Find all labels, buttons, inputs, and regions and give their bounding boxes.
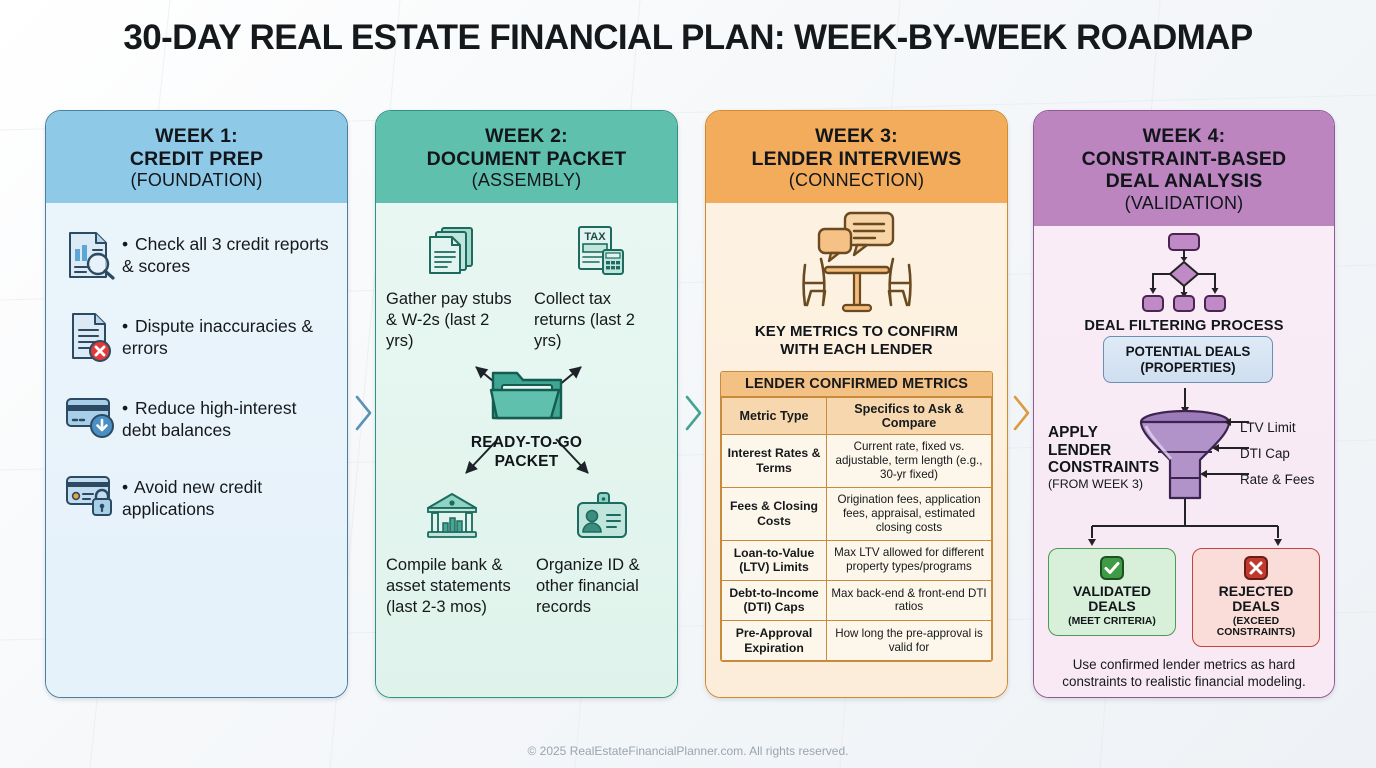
constraint-label-rate: Rate & Fees	[1240, 473, 1314, 499]
week-4-header: WEEK 4: CONSTRAINT-BASED DEAL ANALYSIS (…	[1034, 111, 1334, 226]
table-row: Debt-to-Income (DTI) Caps Max back-end &…	[722, 580, 992, 620]
table-cell-specifics: Max LTV allowed for different property t…	[827, 540, 992, 580]
week-3-title-line2: LENDER INTERVIEWS	[714, 148, 999, 171]
validated-line2: DEALS	[1051, 599, 1173, 614]
week-4-subtitle: (VALIDATION)	[1042, 193, 1326, 214]
list-item: • Check all 3 credit reports & scores	[60, 229, 335, 281]
weeks-container: WEEK 1: CREDIT PREP (FOUNDATION)	[45, 110, 1335, 700]
week-1-title-line1: WEEK 1:	[54, 125, 339, 148]
week-1-header: WEEK 1: CREDIT PREP (FOUNDATION)	[46, 111, 347, 203]
week-1-panel: WEEK 1: CREDIT PREP (FOUNDATION)	[45, 110, 348, 698]
list-item-label: • Avoid new credit applications	[122, 472, 335, 521]
week-3-title-line1: WEEK 3:	[714, 125, 999, 148]
week-2-center-label-line2: PACKET	[376, 453, 677, 472]
week-2-item-label: Organize ID & other financial records	[536, 555, 668, 617]
footer-copyright: © 2025 RealEstateFinancialPlanner.com. A…	[0, 744, 1376, 758]
week-3-body: KEY METRICS TO CONFIRM WITH EACH LENDER …	[706, 203, 1007, 698]
rejected-deals-box: REJECTED DEALS (EXCEED CONSTRAINTS)	[1192, 548, 1320, 648]
chevron-connector-3-4	[1009, 393, 1033, 433]
table-cell-metric: Debt-to-Income (DTI) Caps	[722, 580, 827, 620]
week-2-item-paystubs: Gather pay stubs & W-2s (last 2 yrs)	[386, 219, 518, 351]
week-3-panel: WEEK 3: LENDER INTERVIEWS (CONNECTION)	[705, 110, 1008, 698]
folder-icon	[376, 363, 677, 430]
week-4-body: DEAL FILTERING PROCESS POTENTIAL DEALS (…	[1034, 226, 1334, 698]
svg-text:TAX: TAX	[584, 231, 606, 243]
table-cell-specifics: Current rate, fixed vs. adjustable, term…	[827, 435, 992, 488]
table-column-header: Specifics to Ask & Compare	[827, 398, 992, 435]
lender-metrics-table: LENDER CONFIRMED METRICS Metric Type Spe…	[720, 371, 993, 662]
week-3-caption-line1: KEY METRICS TO CONFIRM	[706, 323, 1007, 341]
credit-report-magnifier-icon	[60, 229, 122, 281]
week-3-header: WEEK 3: LENDER INTERVIEWS (CONNECTION)	[706, 111, 1007, 203]
week-2-item-bank: Compile bank & asset statements (last 2-…	[386, 485, 518, 617]
week-2-body: Gather pay stubs & W-2s (last 2 yrs) TAX	[376, 203, 677, 698]
week-2-center: READY-TO-GO PACKET	[376, 363, 677, 471]
bank-chart-icon	[386, 485, 518, 547]
week-4-footnote: Use confirmed lender metrics as hard con…	[1046, 656, 1322, 691]
constraint-labels: LTV Limit DTI Cap Rate & Fees	[1240, 421, 1314, 499]
table-cell-metric: Loan-to-Value (LTV) Limits	[722, 540, 827, 580]
document-error-icon	[60, 311, 122, 363]
week-2-panel: WEEK 2: DOCUMENT PACKET (ASSEMBLY)	[375, 110, 678, 698]
week-2-title-line1: WEEK 2:	[384, 125, 669, 148]
week-3-caption-line2: WITH EACH LENDER	[706, 341, 1007, 359]
week-4-title-line1: WEEK 4:	[1042, 125, 1326, 148]
table-column-header: Metric Type	[722, 398, 827, 435]
stacked-documents-icon	[386, 219, 518, 281]
week-3-subtitle: (CONNECTION)	[714, 170, 999, 191]
list-item: • Avoid new credit applications	[60, 472, 335, 521]
apply-line1: APPLY LENDER	[1048, 424, 1160, 460]
week-4-diagram: DEAL FILTERING PROCESS POTENTIAL DEALS (…	[1034, 226, 1334, 698]
week-1-list: • Check all 3 credit reports & scores	[46, 203, 347, 521]
week-1-subtitle: (FOUNDATION)	[54, 170, 339, 191]
table-header-row: Metric Type Specifics to Ask & Compare	[722, 398, 992, 435]
week-2-item-label: Collect tax returns (last 2 yrs)	[534, 289, 666, 351]
constraint-label-ltv: LTV Limit	[1240, 421, 1314, 447]
table-cell-specifics: Max back-end & front-end DTI ratios	[827, 580, 992, 620]
week-2-item-label: Gather pay stubs & W-2s (last 2 yrs)	[386, 289, 518, 351]
chevron-connector-2-3	[681, 393, 705, 433]
validated-deals-box: VALIDATED DEALS (MEET CRITERIA)	[1048, 548, 1176, 637]
apply-line2: CONSTRAINTS	[1048, 459, 1160, 477]
page-title: 30-Day Real Estate Financial Plan: Week-…	[0, 18, 1376, 58]
validated-line1: VALIDATED	[1051, 584, 1173, 599]
chevron-connector-1-2	[351, 393, 375, 433]
list-item: • Reduce high-interest debt balances	[60, 393, 335, 442]
rejected-line1: REJECTED	[1195, 584, 1317, 599]
week-4-title-line3: DEAL ANALYSIS	[1042, 170, 1326, 193]
week-2-subtitle: (ASSEMBLY)	[384, 170, 669, 191]
table-cell-metric: Interest Rates & Terms	[722, 435, 827, 488]
table-row: Interest Rates & Terms Current rate, fix…	[722, 435, 992, 488]
apply-sub: (FROM WEEK 3)	[1048, 477, 1160, 491]
list-item-label: • Reduce high-interest debt balances	[122, 393, 335, 442]
week-2-item-label: Compile bank & asset statements (last 2-…	[386, 555, 518, 617]
rejected-sub: (EXCEED CONSTRAINTS)	[1195, 616, 1317, 638]
constraint-label-dti: DTI Cap	[1240, 447, 1314, 473]
week-2-grid: Gather pay stubs & W-2s (last 2 yrs) TAX	[376, 203, 677, 698]
table-row: Loan-to-Value (LTV) Limits Max LTV allow…	[722, 540, 992, 580]
week-3-illustration-block: KEY METRICS TO CONFIRM WITH EACH LENDER	[706, 203, 1007, 359]
week-2-header: WEEK 2: DOCUMENT PACKET (ASSEMBLY)	[376, 111, 677, 203]
interview-table-speech-bubbles-icon	[706, 209, 1007, 319]
table-banner: LENDER CONFIRMED METRICS	[721, 372, 992, 397]
credit-card-down-arrow-icon	[60, 393, 122, 439]
credit-card-lock-icon	[60, 472, 122, 518]
apply-constraints-label: APPLY LENDER CONSTRAINTS (FROM WEEK 3)	[1048, 424, 1160, 492]
week-2-item-tax: TAX	[534, 219, 666, 351]
week-2-title-line2: DOCUMENT PACKET	[384, 148, 669, 171]
week-2-center-label-line1: READY-TO-GO	[376, 434, 677, 453]
week-4-panel: WEEK 4: CONSTRAINT-BASED DEAL ANALYSIS (…	[1033, 110, 1335, 698]
table-row: Fees & Closing Costs Origination fees, a…	[722, 487, 992, 540]
week-1-title-line2: CREDIT PREP	[54, 148, 339, 171]
id-card-icon	[536, 485, 668, 547]
list-item-label: • Check all 3 credit reports & scores	[122, 229, 335, 278]
rejected-line2: DEALS	[1195, 599, 1317, 614]
x-square-icon	[1195, 555, 1317, 581]
infographic-page: 30-Day Real Estate Financial Plan: Week-…	[0, 0, 1376, 768]
check-square-icon	[1051, 555, 1173, 581]
table-cell-metric: Pre-Approval Expiration	[722, 621, 827, 661]
table-cell-specifics: Origination fees, application fees, appr…	[827, 487, 992, 540]
tax-form-calculator-icon: TAX	[534, 219, 666, 281]
week-2-item-id: Organize ID & other financial records	[536, 485, 668, 617]
week-1-body: • Check all 3 credit reports & scores	[46, 203, 347, 698]
validated-sub: (MEET CRITERIA)	[1051, 616, 1173, 627]
table-cell-specifics: How long the pre-approval is valid for	[827, 621, 992, 661]
table-row: Pre-Approval Expiration How long the pre…	[722, 621, 992, 661]
table-cell-metric: Fees & Closing Costs	[722, 487, 827, 540]
list-item-label: • Dispute inaccuracies & errors	[122, 311, 335, 360]
week-4-title-line2: CONSTRAINT-BASED	[1042, 148, 1326, 171]
list-item: • Dispute inaccuracies & errors	[60, 311, 335, 363]
